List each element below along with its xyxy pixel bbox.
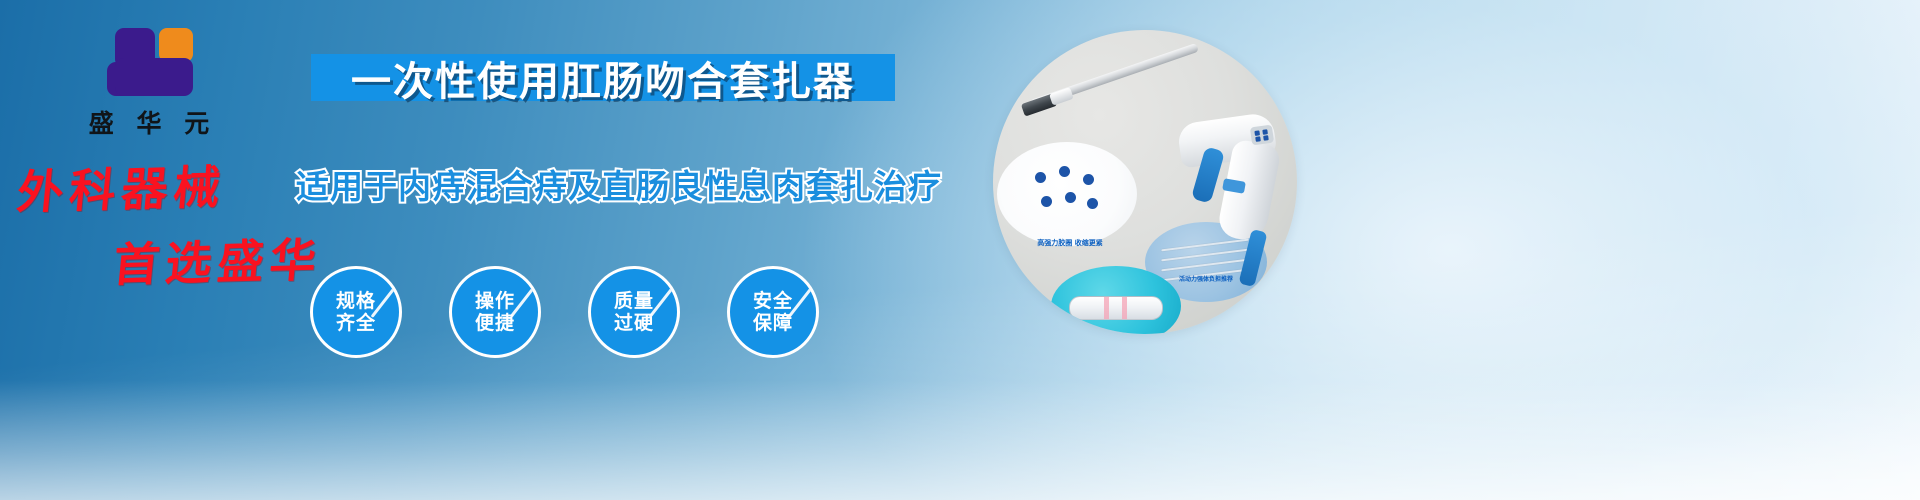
cartridge-icon xyxy=(1069,296,1163,320)
feature-1-line-2: 齐全 xyxy=(336,312,376,334)
promo-banner: 盛 华 元 外科器械 首选盛华 一次性使用肛肠吻合套扎器 适用于内痔混合痔及直肠… xyxy=(0,0,1920,500)
feature-circle-2[interactable]: 操作 便捷 xyxy=(449,266,541,358)
shenghuayuan-logo-mark-icon xyxy=(103,26,195,98)
feature-1-line-1: 规格 xyxy=(336,290,376,312)
feature-2-line-1: 操作 xyxy=(475,290,515,312)
product-photo-circle: 高强力胶圈 收缩更紧 活动力强体负担推荐 xyxy=(993,30,1297,334)
feature-2-line-2: 便捷 xyxy=(475,312,515,334)
device-tip-collar xyxy=(1049,87,1074,106)
feature-circle-1[interactable]: 规格 齐全 xyxy=(310,266,402,358)
brand-name: 盛 华 元 xyxy=(64,104,234,140)
rubber-bands-caption: 高强力胶圈 收缩更紧 xyxy=(1017,238,1123,248)
feature-circle-group: 规格 齐全 操作 便捷 质量 过硬 安全 保障 xyxy=(310,266,910,362)
feature-3-line-2: 过硬 xyxy=(614,312,654,334)
feature-circle-4[interactable]: 安全 保障 xyxy=(727,266,819,358)
brand-logo: 盛 华 元 xyxy=(64,26,234,140)
headline-title: 一次性使用肛肠吻合套扎器 xyxy=(311,52,895,104)
feature-4-line-2: 保障 xyxy=(753,312,793,334)
feature-3-line-1: 质量 xyxy=(614,290,654,312)
bottom-fade xyxy=(0,380,1920,500)
feature-circle-3[interactable]: 质量 过硬 xyxy=(588,266,680,358)
feature-4-line-1: 安全 xyxy=(753,290,793,312)
subtitle-text: 适用于内痔混合痔及直肠良性息肉套扎治疗 xyxy=(296,160,916,208)
device-control-panel xyxy=(1250,125,1274,146)
rubber-bands-inset xyxy=(997,142,1137,246)
